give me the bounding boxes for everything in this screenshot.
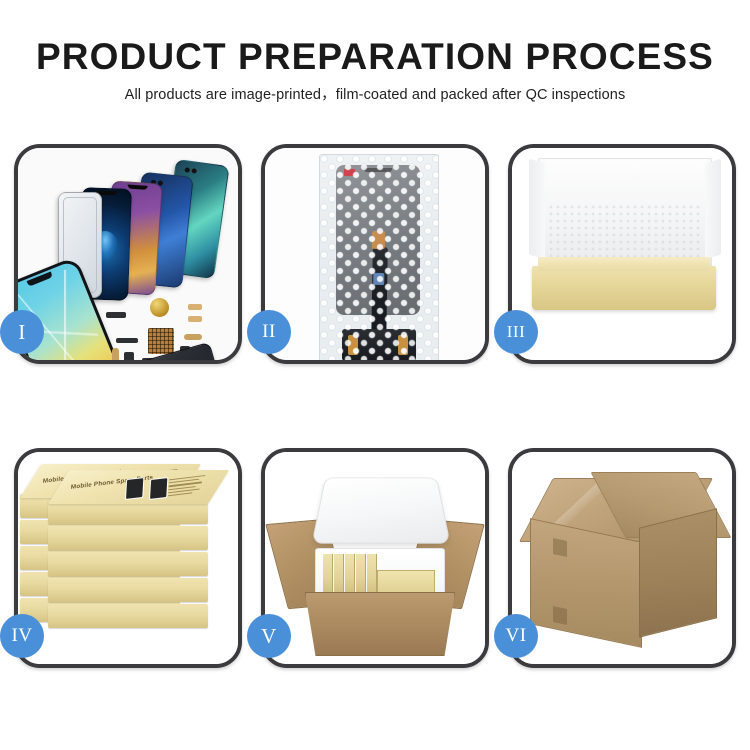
page-subtitle: All products are image-printed，film-coat… bbox=[0, 86, 750, 104]
components-scene bbox=[18, 148, 238, 360]
shipping-carton bbox=[530, 478, 716, 638]
bubble-texture bbox=[320, 155, 438, 360]
spare-parts-cluster bbox=[104, 296, 238, 360]
step-badge-6: VI bbox=[494, 614, 538, 658]
step-panel-4[interactable]: Mobile Phone Spare Parts bbox=[14, 448, 242, 668]
foam-carton-scene bbox=[265, 452, 485, 664]
inner-box-scene bbox=[512, 148, 732, 360]
step-5-image bbox=[265, 452, 485, 664]
step-panel-1[interactable]: I bbox=[14, 144, 242, 364]
notch-icon bbox=[127, 184, 147, 189]
carton-front-face bbox=[530, 518, 642, 648]
step-badge-2: II bbox=[247, 310, 291, 354]
product-preparation-infographic: PRODUCT PREPARATION PROCESS All products… bbox=[0, 0, 750, 750]
step-badge-3: III bbox=[494, 310, 538, 354]
bubble-wrap-scene bbox=[265, 148, 485, 360]
bubble-wrap-bag bbox=[319, 154, 439, 360]
box-lid-face: Mobile Phone Spare Parts bbox=[48, 470, 229, 504]
step-badge-1: I bbox=[0, 310, 44, 354]
step-6-image bbox=[512, 452, 732, 664]
golden-boxes-inside bbox=[323, 554, 435, 598]
carton-handle-tab bbox=[553, 606, 567, 625]
page-title: PRODUCT PREPARATION PROCESS bbox=[0, 36, 750, 78]
step-panel-3[interactable]: III bbox=[508, 144, 736, 364]
retail-box-stack-scene: Mobile Phone Spare Parts bbox=[18, 452, 238, 664]
step-4-image: Mobile Phone Spare Parts bbox=[18, 452, 238, 664]
step-badge-4: IV bbox=[0, 614, 44, 658]
step-1-image bbox=[18, 148, 238, 360]
sealed-carton-scene bbox=[512, 452, 732, 664]
step-panel-6[interactable]: VI bbox=[508, 448, 736, 668]
step-panel-5[interactable]: V bbox=[261, 448, 489, 668]
steps-grid: I II bbox=[0, 136, 750, 692]
step-badge-5: V bbox=[247, 614, 291, 658]
camera-punch-icon bbox=[184, 167, 190, 173]
foam-box-lid bbox=[311, 478, 450, 544]
step-2-image bbox=[265, 148, 485, 360]
header: PRODUCT PREPARATION PROCESS All products… bbox=[0, 0, 750, 125]
carton-side-face bbox=[639, 508, 717, 637]
step-3-image bbox=[512, 148, 732, 360]
step-panel-2[interactable]: II bbox=[261, 144, 489, 364]
golden-box-tray bbox=[532, 266, 716, 310]
carton-body bbox=[305, 592, 455, 656]
carton-handle-tab bbox=[553, 538, 567, 557]
